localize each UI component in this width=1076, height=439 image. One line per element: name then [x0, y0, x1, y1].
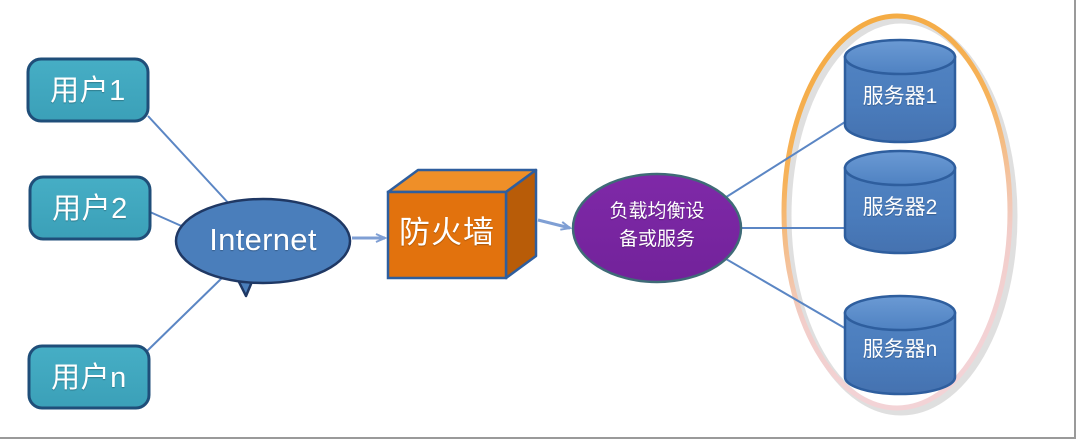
connector-user1-internet — [148, 116, 232, 207]
arrow-firewall-to-loadbalancer — [538, 220, 570, 228]
server-node-server1[interactable] — [845, 40, 955, 142]
client-nodes — [28, 59, 150, 408]
network-topology-diagram: 用户1 用户2 用户n Internet 防火墙 负载均衡设 备或服务 服务器1… — [0, 0, 1076, 439]
client-node-usern[interactable] — [29, 346, 149, 408]
connector-lb-servern — [714, 252, 848, 330]
client-node-user2[interactable] — [30, 177, 150, 239]
diagram-canvas — [0, 0, 1076, 439]
internet-cloud[interactable] — [176, 199, 350, 296]
client-node-user1[interactable] — [28, 59, 148, 121]
server-node-servern[interactable] — [845, 296, 955, 394]
load-balancer-node[interactable] — [573, 174, 741, 282]
connector-usern-internet — [146, 275, 225, 352]
server-nodes — [845, 40, 955, 394]
server-node-server2[interactable] — [845, 151, 955, 253]
firewall-cube[interactable] — [388, 170, 536, 278]
connector-lb-server1 — [712, 122, 845, 206]
